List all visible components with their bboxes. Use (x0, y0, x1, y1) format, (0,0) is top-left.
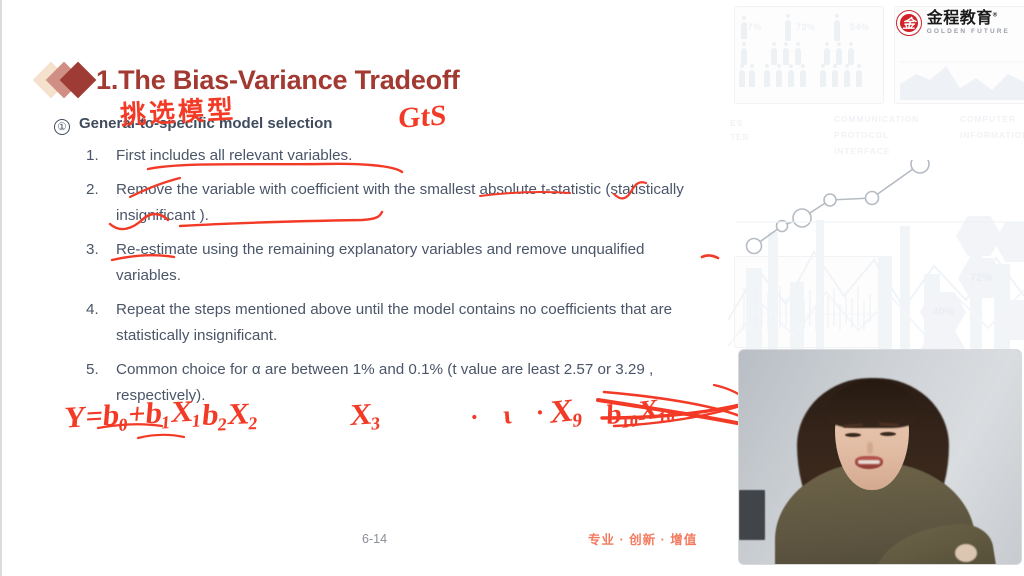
subsection-marker: ① (54, 119, 70, 135)
logo-registered-mark: ® (993, 12, 998, 18)
list-item-number: 2. (86, 177, 108, 203)
bg-person-icon (834, 20, 840, 41)
bg-line-chart (736, 160, 1024, 270)
bg-person-icon (820, 70, 826, 87)
bg-word-label: PROTOCOL (834, 130, 889, 140)
bg-candlestick-chart (740, 268, 880, 340)
list-item: 1. First includes all relevant variables… (86, 143, 686, 169)
bg-person-icon (764, 70, 770, 87)
slide-canvas: 47% 73% 54% ES TER COMMUNICATION PROT (0, 0, 1024, 576)
page-title-block: 1.The Bias-Variance Tradeoff (38, 60, 460, 100)
ink-tick-small (702, 255, 718, 258)
presenter-mouth (855, 456, 883, 469)
bg-card-pictogram (734, 6, 884, 104)
bg-person-icon (749, 70, 755, 87)
list-item-text: First includes all relevant variables. (116, 147, 352, 164)
logo-text-block: 金程教育® GOLDEN FUTURE (927, 11, 1010, 36)
logo-name-en: GOLDEN FUTURE (927, 29, 1010, 36)
list-item: 3. Re-estimate using the remaining expla… (86, 237, 686, 289)
bg-person-icon (832, 70, 838, 87)
bg-person-icon (741, 48, 747, 65)
bg-person-icon (856, 70, 862, 87)
bg-word-label: ES (730, 118, 743, 128)
bg-person-icon (848, 48, 854, 65)
bg-percent-label-3: 54% (850, 22, 870, 32)
bg-person-icon (844, 70, 850, 87)
handwriting-gts: GtS (397, 99, 446, 136)
bg-person-icon (800, 70, 806, 87)
list-item-text: Re-estimate using the remaining explanat… (116, 241, 645, 284)
bg-person-icon (836, 48, 842, 65)
list-item-text: Remove the variable with coefficient wit… (116, 181, 684, 224)
bg-word-label: COMPUTER (960, 114, 1016, 124)
brand-logo: 金 金程教育® GOLDEN FUTURE (896, 10, 1010, 36)
bg-word-label: TER (730, 132, 750, 142)
list-item: 4. Repeat the steps mentioned above unti… (86, 297, 686, 349)
bg-area-chart (900, 44, 1024, 100)
list-item: 2. Remove the variable with coefficient … (86, 177, 686, 229)
page-title: 1.The Bias-Variance Tradeoff (96, 65, 460, 96)
subsection-label: General-to-specific model selection (79, 115, 332, 132)
list-item-text: Repeat the steps mentioned above until t… (116, 301, 672, 344)
ink-underline-eq1 (98, 424, 162, 428)
presenter-eye-right (880, 432, 896, 436)
list-item-number: 5. (86, 357, 108, 383)
list-item: 5. Common choice for α are between 1% an… (86, 357, 686, 409)
bg-word-label: COMMUNICATION (834, 114, 919, 124)
ink-underline-eq2 (138, 435, 184, 438)
bg-person-icon (788, 70, 794, 87)
page-number: 6-14 (362, 532, 387, 546)
presenter-hand (955, 544, 977, 562)
list-item-number: 1. (86, 143, 108, 169)
subsection-heading: ① General-to-specific model selection (54, 115, 332, 133)
bg-person-icon (785, 20, 791, 41)
bg-person-icon (741, 22, 747, 39)
instructor-webcam-video[interactable] (739, 350, 1021, 564)
webcam-dark-object (739, 490, 765, 540)
bg-person-icon (824, 48, 830, 65)
logo-seal-glyph: 金 (902, 17, 915, 30)
decorative-background-art: 47% 73% 54% ES TER COMMUNICATION PROT (728, 0, 1024, 352)
bg-word-label: INFORMATION (960, 130, 1024, 140)
bg-person-icon (739, 70, 745, 87)
brand-tagline: 专业 · 创新 · 增值 (588, 529, 697, 548)
steps-list: 1. First includes all relevant variables… (86, 143, 686, 417)
bg-percent-label-2: 73% (796, 22, 816, 32)
bg-person-icon (776, 70, 782, 87)
presenter-eye-left (845, 433, 861, 437)
bg-word-label: INTERFACE (834, 146, 890, 156)
list-item-number: 3. (86, 237, 108, 263)
bg-person-icon (795, 48, 801, 65)
logo-name-cn: 金程教育® (927, 11, 1010, 27)
bg-person-icon (771, 48, 777, 65)
bg-person-icon (783, 48, 789, 65)
list-item-number: 4. (86, 297, 108, 323)
diamond-bullet-icon (38, 60, 96, 100)
list-item-text: Common choice for α are between 1% and 0… (116, 361, 653, 404)
presenter-nose (867, 442, 873, 454)
logo-seal-icon: 金 (896, 10, 922, 36)
